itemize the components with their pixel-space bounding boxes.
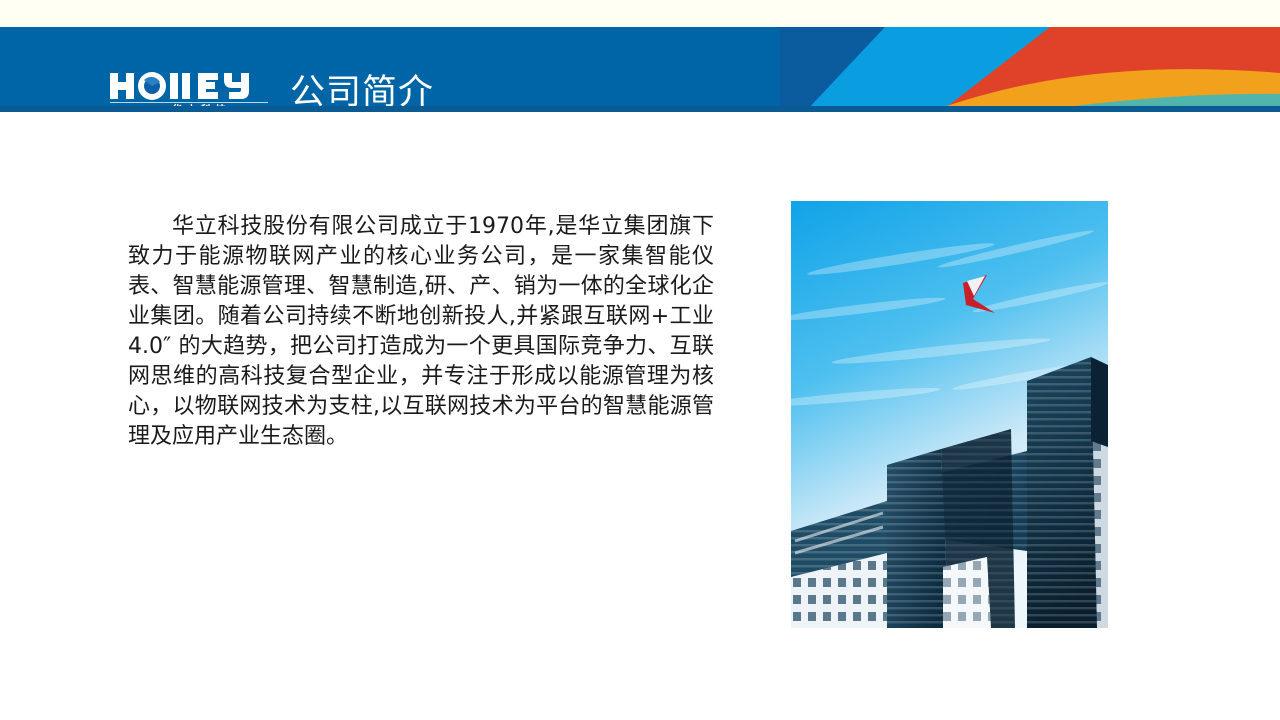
top-strip: [0, 0, 1280, 27]
color-swoosh-icon: [780, 27, 1280, 112]
slide-header: TECH 华立科技 公司简介: [0, 27, 1280, 112]
office-buildings-photo: [791, 201, 1108, 628]
company-profile-paragraph: 华立科技股份有限公司成立于1970年,是华立集团旗下致力于能源物联网产业的核心业…: [128, 212, 714, 452]
office-buildings-image: [791, 201, 1108, 628]
header-underline: [0, 106, 1280, 112]
color-swoosh-decoration: [780, 27, 1280, 112]
slide-root: TECH 华立科技 公司简介 华立科技股份有限公司成立于1970年,是华立集团旗…: [0, 0, 1280, 720]
